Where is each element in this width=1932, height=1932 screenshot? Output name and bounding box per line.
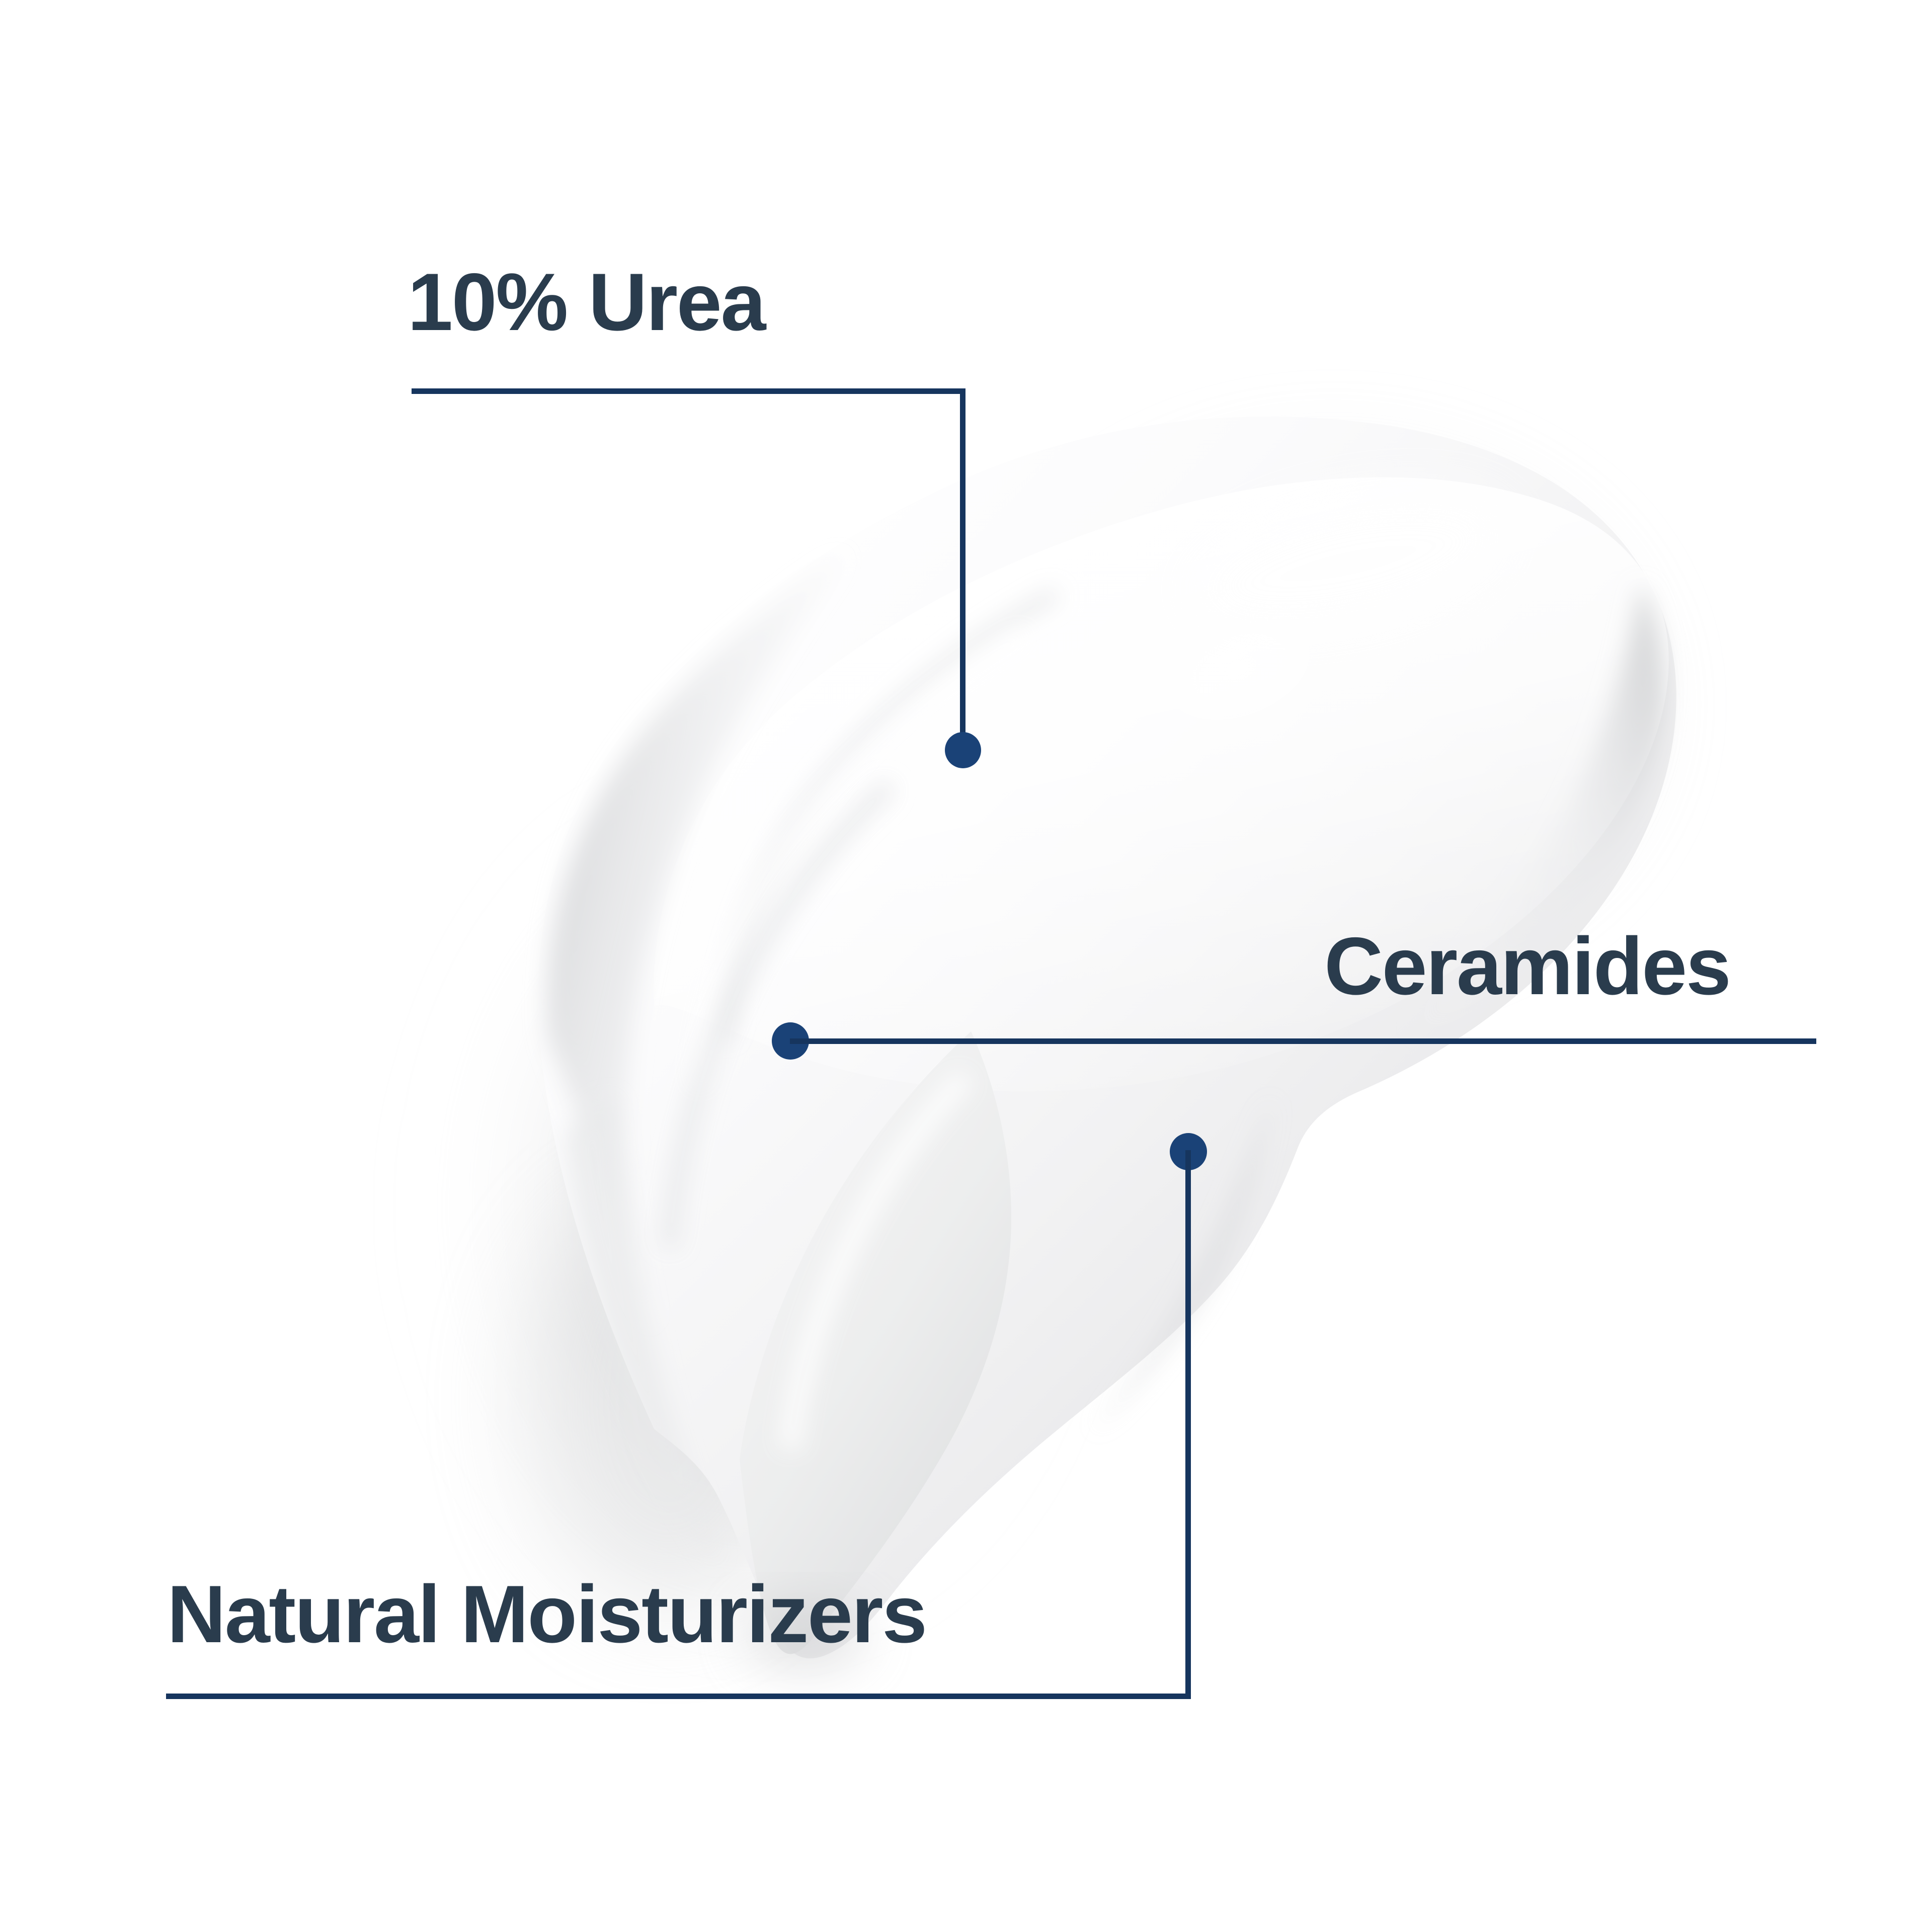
- ceramides-leader-line-horizontal: [790, 1038, 1816, 1044]
- callout-label-urea: 10% Urea: [408, 262, 765, 343]
- callout-label-ceramides: Ceramides: [1324, 926, 1730, 1007]
- urea-leader-line-horizontal: [412, 388, 965, 394]
- urea-leader-line-vertical: [960, 388, 965, 751]
- infographic-canvas: 10% Urea Ceramides Natural Moisturizers: [0, 0, 1932, 1932]
- callout-label-natural-moisturizers: Natural Moisturizers: [167, 1574, 926, 1655]
- natural-moisturizers-leader-line-horizontal: [166, 1694, 1191, 1699]
- urea-marker-dot[interactable]: [945, 732, 981, 768]
- natural-moisturizers-leader-line-vertical: [1185, 1150, 1191, 1699]
